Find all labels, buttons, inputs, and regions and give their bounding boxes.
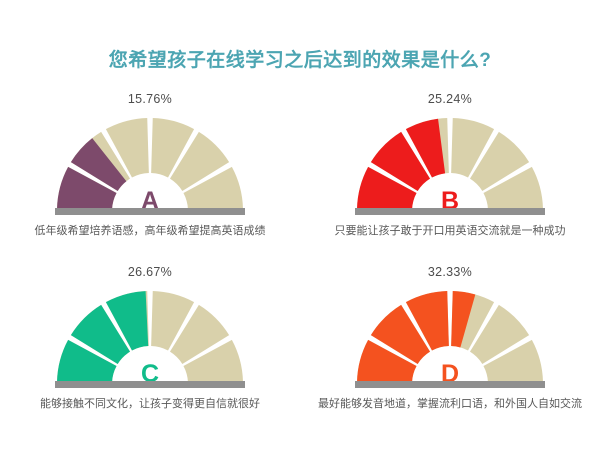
gauge-percent-label-d: 32.33% [300,265,600,279]
gauge-caption-c: 能够接触不同文化，让孩子变得更自信就很好 [0,395,300,411]
gauge-percent-label-c: 26.67% [0,265,300,279]
gauge-dial-b: B [355,111,545,214]
gauge-dial-c: C [55,284,245,387]
gauge-percent-label-b: 25.24% [300,92,600,106]
gauge-caption-d: 最好能够发音地道，掌握流利口语，和外国人自如交流 [300,395,600,411]
gauge-baseline-c [55,381,245,388]
gauge-card-c: 26.67% C 能够接触不同文化，让孩子变得更自信就很好 [0,265,300,438]
gauge-caption-b: 只要能让孩子敢于开口用英语交流就是一种成功 [300,222,600,238]
gauge-card-d: 32.33% D 最好能够发音地道，掌握流利口语，和外国人自如交流 [300,265,600,438]
gauge-percent-label-a: 15.76% [0,92,300,106]
gauge-grid: 15.76% A 低年级希望培养语感，高年级希望提高英语成绩 25.24% B … [0,92,600,438]
gauge-card-a: 15.76% A 低年级希望培养语感，高年级希望提高英语成绩 [0,92,300,265]
infographic-page: 您希望孩子在线学习之后达到的效果是什么? 15.76% A 低年级希望培养语感，… [0,0,600,449]
gauge-caption-a: 低年级希望培养语感，高年级希望提高英语成绩 [0,222,300,238]
gauge-baseline-d [355,381,545,388]
gauge-baseline-a [55,208,245,215]
gauge-baseline-b [355,208,545,215]
page-title: 您希望孩子在线学习之后达到的效果是什么? [0,45,600,72]
gauge-dial-d: D [355,284,545,387]
gauge-dial-a: A [55,111,245,214]
gauge-card-b: 25.24% B 只要能让孩子敢于开口用英语交流就是一种成功 [300,92,600,265]
